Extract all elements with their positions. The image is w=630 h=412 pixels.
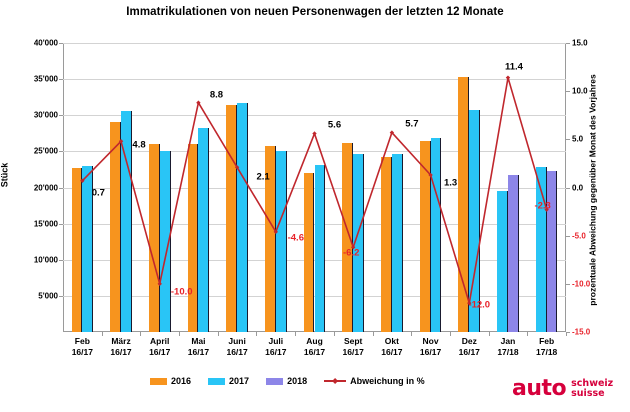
auto-schweiz-logo: auto schweiz suisse	[512, 378, 613, 400]
x-axis-label-years: 16/17	[226, 347, 247, 358]
y-axis-left-tick: 5'000	[2, 291, 58, 300]
x-axis-tickmark	[256, 332, 257, 336]
legend-item-deviation: Abweichung in %	[324, 376, 425, 386]
y-axis-right-tickmark	[566, 236, 570, 237]
logo-brand-text: auto	[512, 378, 566, 400]
x-axis-label-feb: Feb16/17	[72, 336, 93, 358]
x-axis-label-mai: Mai16/17	[188, 336, 209, 358]
y-axis-left-tick: 35'000	[2, 75, 58, 84]
x-axis-label-month: Nov	[420, 336, 441, 347]
y-axis-right-tickmark	[566, 284, 570, 285]
y-axis-right-tick: -15.0	[572, 328, 612, 337]
legend-swatch-2018	[266, 378, 283, 385]
y-axis-right-tick: 5.0	[572, 135, 612, 144]
legend-label-deviation: Abweichung in %	[350, 376, 425, 386]
x-axis-label-month: Okt	[381, 336, 402, 347]
data-label-juni: 2.1	[257, 172, 270, 183]
x-axis-tickmark	[295, 332, 296, 336]
x-axis-label-month: Feb	[72, 336, 93, 347]
x-axis-label-years: 16/17	[304, 347, 325, 358]
x-axis-tickmark	[334, 332, 335, 336]
x-axis-label-month: Feb	[536, 336, 557, 347]
legend-swatch-2016	[150, 378, 167, 385]
legend-label-2016: 2016	[171, 376, 191, 386]
logo-subtitle: schweiz suisse	[571, 379, 613, 399]
y-axis-right-tickmark	[566, 43, 570, 44]
x-axis-label-month: April	[149, 336, 170, 347]
x-axis-label-years: 16/17	[149, 347, 170, 358]
x-axis-tickmark	[102, 332, 103, 336]
x-axis-label-years: 16/17	[110, 347, 131, 358]
x-axis-tickmark	[566, 332, 567, 336]
x-axis-label-aug: Aug16/17	[304, 336, 325, 358]
x-axis-label-okt: Okt16/17	[381, 336, 402, 358]
x-axis-label-feb: Feb17/18	[536, 336, 557, 358]
x-axis-label-juli: Juli16/17	[265, 336, 286, 358]
data-label-aug: 5.6	[328, 119, 341, 130]
x-axis-label-sept: Sept16/17	[343, 336, 364, 358]
x-axis-label-märz: März16/17	[110, 336, 131, 358]
x-axis-label-dez: Dez16/17	[459, 336, 480, 358]
y-axis-left-tick: 40'000	[2, 39, 58, 48]
x-axis-label-nov: Nov16/17	[420, 336, 441, 358]
y-axis-right-tick: -5.0	[572, 231, 612, 240]
data-label-dez: -12.0	[468, 300, 490, 311]
legend: 2016 2017 2018 Abweichung in %	[150, 376, 425, 386]
x-axis-tickmark	[411, 332, 412, 336]
data-label-okt: 5.7	[405, 118, 418, 129]
x-axis-label-years: 16/17	[72, 347, 93, 358]
x-axis-label-years: 16/17	[343, 347, 364, 358]
data-label-juli: -4.6	[288, 232, 304, 243]
deviation-marker	[506, 75, 510, 79]
data-label-feb: -2.3	[534, 200, 550, 211]
logo-line-suisse: suisse	[571, 389, 613, 399]
legend-label-2018: 2018	[287, 376, 307, 386]
x-axis-tickmark	[179, 332, 180, 336]
legend-swatch-2017	[208, 378, 225, 385]
x-axis-label-april: April16/17	[149, 336, 170, 358]
x-axis-tickmark	[218, 332, 219, 336]
y-axis-right-tick: 15.0	[572, 39, 612, 48]
y-axis-right-tick: 10.0	[572, 87, 612, 96]
x-axis-label-years: 16/17	[420, 347, 441, 358]
x-axis-label-month: Sept	[343, 336, 364, 347]
x-axis-label-month: Juli	[265, 336, 286, 347]
x-axis-label-month: Mai	[188, 336, 209, 347]
y-axis-left-tick: 25'000	[2, 147, 58, 156]
y-axis-right-tickmark	[566, 91, 570, 92]
x-axis-label-years: 16/17	[381, 347, 402, 358]
x-axis-label-years: 17/18	[536, 347, 557, 358]
y-axis-right-tickmark	[566, 188, 570, 189]
deviation-marker	[158, 282, 162, 286]
data-label-feb: 0.7	[92, 187, 105, 198]
x-axis-tickmark	[373, 332, 374, 336]
data-label-april: -10.0	[171, 286, 193, 297]
x-axis-label-jan: Jan17/18	[497, 336, 518, 358]
x-axis-label-month: Jan	[497, 336, 518, 347]
y-axis-left-tick: 20'000	[2, 183, 58, 192]
y-axis-left-tick: 30'000	[2, 111, 58, 120]
x-axis-label-years: 16/17	[459, 347, 480, 358]
x-axis-label-month: Aug	[304, 336, 325, 347]
x-axis-tickmark	[489, 332, 490, 336]
data-label-jan: 11.4	[505, 61, 523, 72]
chart-page: Immatrikulationen von neuen Personenwage…	[0, 0, 630, 412]
legend-item-2017: 2017	[208, 376, 249, 386]
x-axis-tickmark	[140, 332, 141, 336]
data-label-sept: -6.2	[343, 248, 359, 259]
data-label-märz: 4.8	[132, 140, 145, 151]
y-axis-left-tick: 10'000	[2, 255, 58, 264]
deviation-marker	[312, 131, 316, 135]
x-axis-label-years: 16/17	[188, 347, 209, 358]
legend-item-2016: 2016	[150, 376, 191, 386]
x-axis-tickmark	[527, 332, 528, 336]
data-label-mai: 8.8	[210, 89, 223, 100]
x-axis-label-month: Dez	[459, 336, 480, 347]
legend-item-2018: 2018	[266, 376, 307, 386]
x-axis-label-juni: Juni16/17	[226, 336, 247, 358]
x-axis-label-years: 16/17	[265, 347, 286, 358]
deviation-line	[63, 43, 566, 332]
data-label-nov: 1.3	[444, 177, 457, 188]
legend-line-marker-icon	[324, 377, 346, 385]
y-axis-left-tick: 15'000	[2, 219, 58, 228]
y-axis-right-tick: -10.0	[572, 279, 612, 288]
x-axis-label-month: März	[110, 336, 131, 347]
deviation-polyline	[82, 78, 546, 303]
y-axis-right-tickmark	[566, 139, 570, 140]
x-axis-label-month: Juni	[226, 336, 247, 347]
y-axis-right-tick: 0.0	[572, 183, 612, 192]
page-title: Immatrikulationen von neuen Personenwage…	[0, 6, 630, 18]
legend-label-2017: 2017	[229, 376, 249, 386]
x-axis-label-years: 17/18	[497, 347, 518, 358]
x-axis-tickmark	[450, 332, 451, 336]
